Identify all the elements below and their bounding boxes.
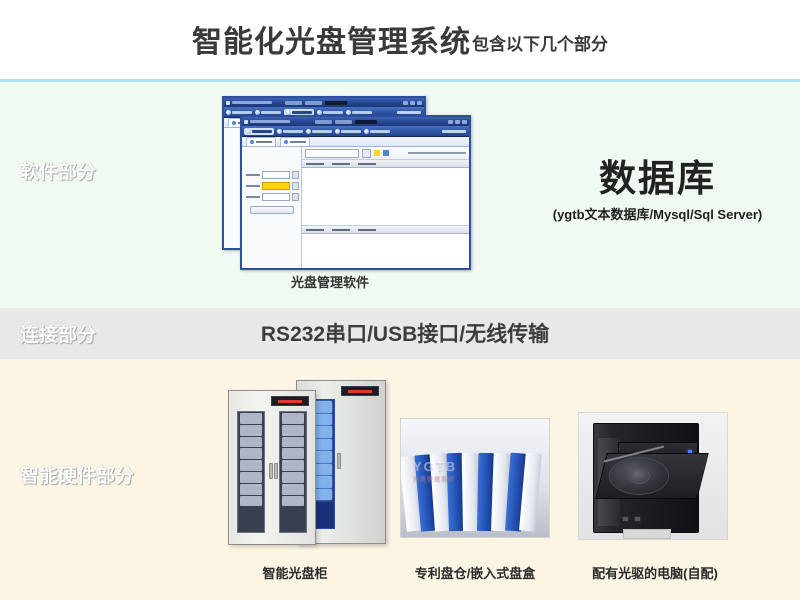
toolbar-button-print[interactable] xyxy=(346,110,372,115)
panel-readout xyxy=(348,390,372,393)
window-titlebar-front xyxy=(242,117,469,126)
toolbar-label xyxy=(323,111,343,114)
status-pill-active xyxy=(355,120,377,124)
browse-button[interactable] xyxy=(292,171,299,179)
status-pill xyxy=(335,120,352,124)
print-icon xyxy=(346,110,351,115)
result-grid-rows[interactable] xyxy=(302,168,469,226)
window-body-front xyxy=(242,147,469,268)
import-icon xyxy=(226,110,231,115)
database-subtitle: (ygtb文本数据库/Mysql/Sql Server) xyxy=(520,204,795,223)
disc-shelf xyxy=(282,460,304,471)
window-controls[interactable] xyxy=(403,101,422,105)
page-title-main: 智能化光盘管理系统 xyxy=(192,17,471,61)
result-grid-header xyxy=(302,160,469,168)
photo-smart-disc-cabinet xyxy=(218,378,394,550)
grid-icon[interactable] xyxy=(383,150,389,156)
watermark-subtext: 光盘管理系统 xyxy=(413,474,457,483)
import-icon xyxy=(246,129,251,134)
toolbar-button-import[interactable] xyxy=(226,110,252,115)
detail-grid-header xyxy=(302,226,469,234)
page-title: 智能化光盘管理系统包含以下几个部分 xyxy=(0,0,800,78)
cabinet-handle xyxy=(269,463,273,479)
tab-borrow[interactable] xyxy=(280,137,310,146)
window-titlebar-back xyxy=(224,98,424,107)
page-header: 智能化光盘管理系统包含以下几个部分 xyxy=(0,0,800,82)
watermark-logo: YGTB 光盘管理系统 xyxy=(413,459,457,483)
close-icon[interactable] xyxy=(462,120,467,124)
section-label-software: 软件部分 xyxy=(20,157,96,184)
pc-base-shadow xyxy=(623,529,671,539)
browse-button[interactable] xyxy=(292,193,299,201)
disc-shelf xyxy=(282,484,304,495)
disc-shelf xyxy=(240,496,262,507)
disc-shelf xyxy=(282,496,304,507)
status-pill xyxy=(285,101,302,105)
column-header[interactable] xyxy=(358,163,376,165)
status-pill xyxy=(315,120,332,124)
navigation-pane-front[interactable] xyxy=(242,147,302,268)
close-icon[interactable] xyxy=(417,101,422,105)
toolbar-label xyxy=(261,111,281,114)
column-header[interactable] xyxy=(332,229,350,231)
disc-shelf xyxy=(240,437,262,448)
app-icon xyxy=(226,101,230,105)
disc-spindle-hub xyxy=(628,468,650,484)
panel-readout xyxy=(278,400,302,403)
borrow-icon xyxy=(284,140,288,144)
column-header[interactable] xyxy=(306,229,324,231)
field-label xyxy=(246,185,260,187)
toolbar-button-query[interactable] xyxy=(306,129,332,134)
search-bar[interactable] xyxy=(302,147,469,160)
database-block: 数据库 (ygtb文本数据库/Mysql/Sql Server) xyxy=(520,160,795,223)
search-icon[interactable] xyxy=(362,149,371,158)
window-controls[interactable] xyxy=(448,120,467,124)
tabstrip-front[interactable] xyxy=(242,137,469,147)
disc-shelf xyxy=(282,472,304,483)
section-label-connection: 连接部分 xyxy=(20,320,96,347)
toolbar-button-export[interactable] xyxy=(277,129,303,134)
cabinet-handle xyxy=(337,453,341,469)
toolbar-button-export[interactable] xyxy=(255,110,281,115)
toolbar-label xyxy=(292,111,312,114)
power-button-icon xyxy=(622,516,629,522)
form-field-disc-id[interactable] xyxy=(246,171,299,179)
column-header[interactable] xyxy=(332,163,350,165)
disc-management-window-front[interactable] xyxy=(240,115,471,270)
disc-management-software-screenshot xyxy=(222,96,467,266)
toolbar-button-refresh[interactable] xyxy=(364,129,390,134)
section-label-hardware: 智能硬件部分 xyxy=(20,461,134,488)
gear-icon xyxy=(317,110,322,115)
watermark-text: YGTB xyxy=(413,459,457,474)
disc-icon xyxy=(250,140,254,144)
caption-tray: 专利盘仓/嵌入式盘盒 xyxy=(395,563,555,582)
form-field-disc-name[interactable] xyxy=(246,182,299,190)
titlebar-status-group xyxy=(315,120,377,124)
toolbar-button-import[interactable] xyxy=(244,128,274,135)
poster-root: 智能化光盘管理系统包含以下几个部分 软件部分 xyxy=(0,0,800,600)
detail-grid-rows[interactable] xyxy=(302,234,469,268)
search-icon xyxy=(286,110,291,115)
toolbar-button-settings[interactable] xyxy=(335,129,361,134)
cabinet-light xyxy=(228,390,316,545)
gear-icon xyxy=(335,129,340,134)
page-title-sub: 包含以下几个部分 xyxy=(472,30,608,55)
photo-computer-with-optical-drive xyxy=(578,412,728,540)
photo-disc-trays: YGTB 光盘管理系统 xyxy=(400,418,550,538)
status-text xyxy=(408,152,466,154)
tab-label xyxy=(290,141,306,143)
window-title-text xyxy=(232,101,272,104)
window-title-text xyxy=(250,120,290,123)
tab-disc-info[interactable] xyxy=(246,137,276,146)
toolbar-button-settings[interactable] xyxy=(317,110,343,115)
tab-label xyxy=(256,141,272,143)
status-pill-active xyxy=(325,101,347,105)
column-header[interactable] xyxy=(306,163,324,165)
disc-shelf xyxy=(240,472,262,483)
reset-button-icon xyxy=(634,516,641,522)
disc-shelf xyxy=(282,413,304,424)
toolbar-label xyxy=(341,130,361,133)
cabinet-glass-door-left xyxy=(237,411,265,533)
connection-interfaces-text: RS232串口/USB接口/无线传输 xyxy=(235,318,575,348)
toolbar-button-help[interactable] xyxy=(442,130,466,133)
submit-button[interactable] xyxy=(250,206,294,214)
disc-shelf xyxy=(282,448,304,459)
titlebar-status-group xyxy=(285,101,347,105)
disc-shelf xyxy=(282,425,304,436)
slot-input[interactable] xyxy=(262,193,290,201)
caption-cabinet: 智能光盘柜 xyxy=(230,563,360,582)
refresh-icon xyxy=(364,129,369,134)
toolbar-front[interactable] xyxy=(242,126,469,137)
disc-shelf xyxy=(240,460,262,471)
cabinet-display-panel xyxy=(271,396,309,406)
browse-button[interactable] xyxy=(292,182,299,190)
toolbar-label xyxy=(370,130,390,133)
toolbar-label xyxy=(283,130,303,133)
caption-software: 光盘管理软件 xyxy=(255,272,405,291)
disc-shelf xyxy=(240,448,262,459)
disc-name-input-highlighted[interactable] xyxy=(262,182,290,190)
toolbar-label xyxy=(352,111,372,114)
cabinet-display-panel xyxy=(341,386,379,396)
minimize-icon[interactable] xyxy=(403,101,408,105)
form-field-slot[interactable] xyxy=(246,193,299,201)
maximize-icon[interactable] xyxy=(455,120,460,124)
disc-shelf xyxy=(240,413,262,424)
field-label xyxy=(246,196,260,198)
status-pill xyxy=(305,101,322,105)
folder-icon[interactable] xyxy=(374,150,380,156)
toolbar-label xyxy=(232,111,252,114)
search-input[interactable] xyxy=(305,149,359,158)
minimize-icon[interactable] xyxy=(448,120,453,124)
app-icon xyxy=(244,120,248,124)
disc-shelf xyxy=(282,437,304,448)
toolbar-label xyxy=(312,130,332,133)
toolbar-label xyxy=(252,130,272,133)
export-icon xyxy=(277,129,282,134)
caption-pc: 配有光驱的电脑(自配) xyxy=(575,563,735,582)
disc-icon xyxy=(232,121,236,125)
maximize-icon[interactable] xyxy=(410,101,415,105)
content-pane-front xyxy=(302,147,469,268)
cabinet-glass-door-right xyxy=(279,411,307,533)
database-title: 数据库 xyxy=(520,160,795,199)
field-label xyxy=(246,174,260,176)
pc-front-buttons xyxy=(622,516,641,522)
disc-id-input[interactable] xyxy=(262,171,290,179)
disc-shelf xyxy=(240,484,262,495)
export-icon xyxy=(255,110,260,115)
cabinet-handle xyxy=(274,463,278,479)
column-header[interactable] xyxy=(358,229,376,231)
disc-shelf xyxy=(240,425,262,436)
toolbar-button-help[interactable] xyxy=(397,111,421,114)
search-icon xyxy=(306,129,311,134)
